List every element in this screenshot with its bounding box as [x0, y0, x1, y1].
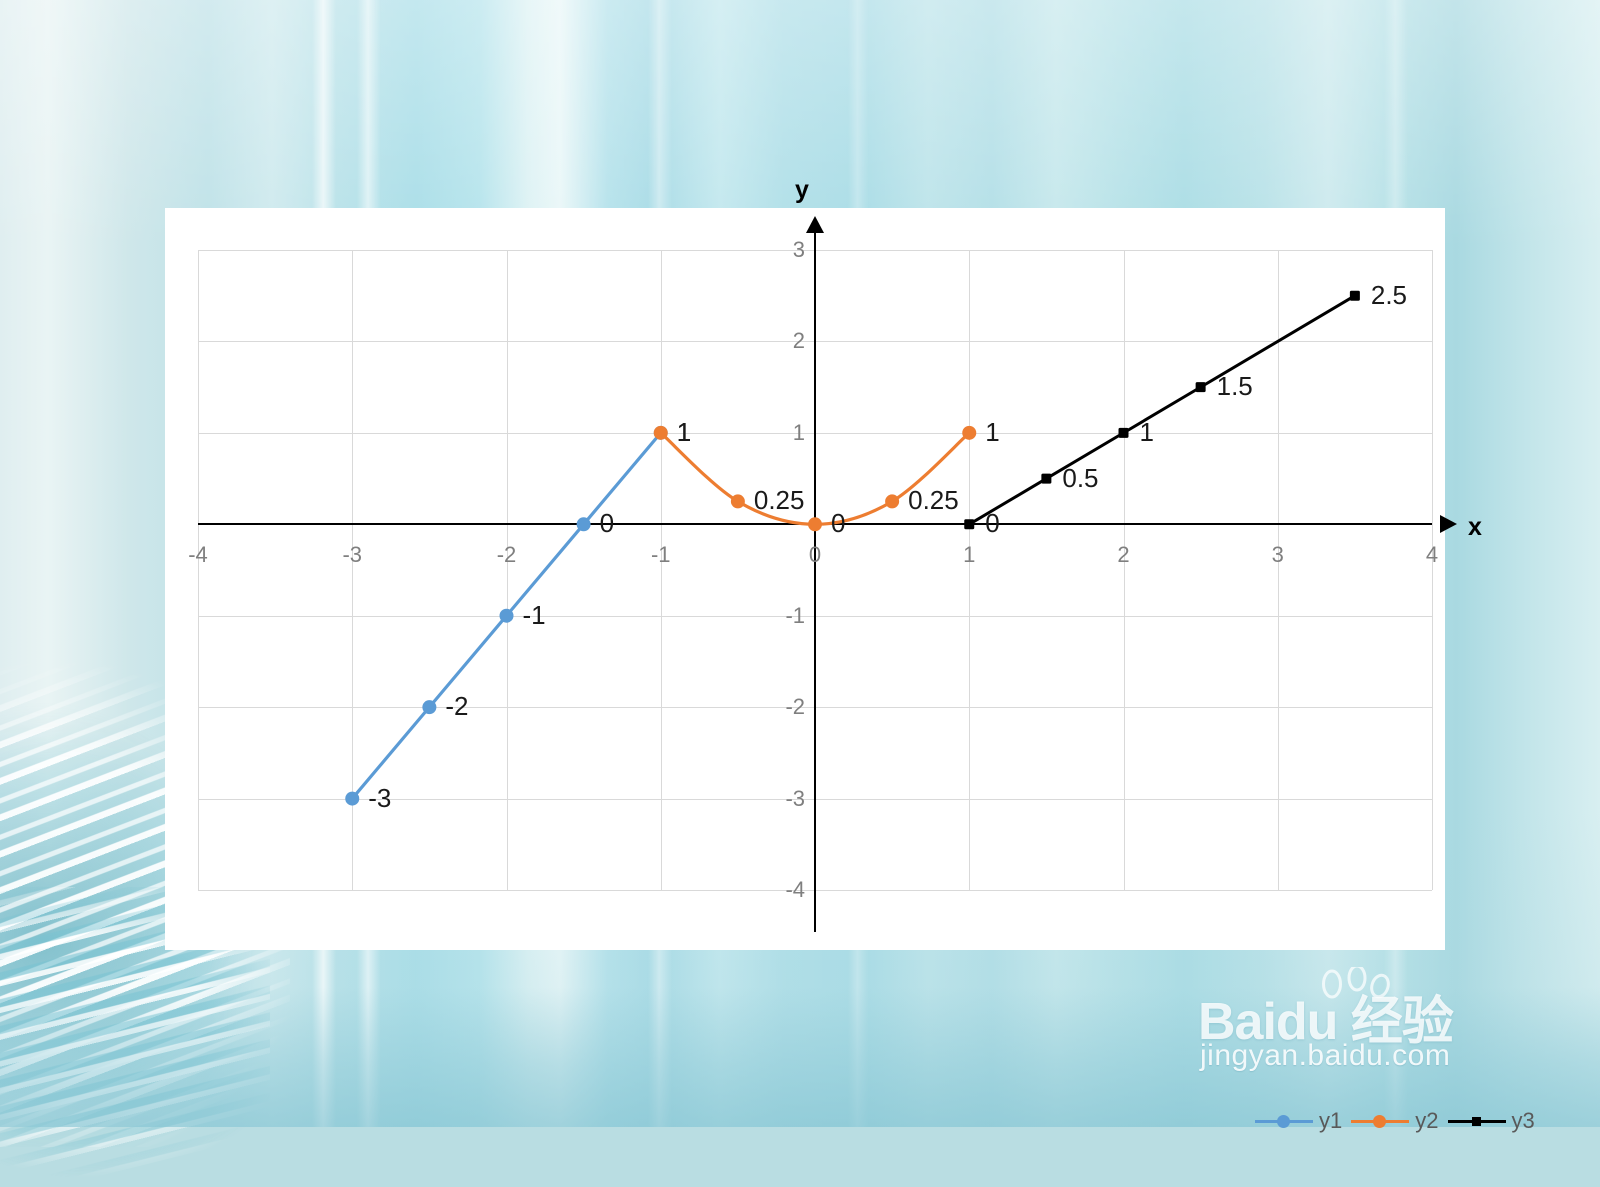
legend-swatch-y2	[1351, 1114, 1409, 1128]
chart-legend: y1y2y3	[1255, 1106, 1544, 1136]
x-axis-arrow-icon	[1440, 515, 1457, 533]
data-label-y1: 0	[600, 510, 614, 536]
data-point-y2	[808, 517, 822, 531]
data-point-y1	[577, 517, 591, 531]
data-label-y2: 0.25	[908, 487, 959, 513]
data-point-y1	[345, 792, 359, 806]
data-label-y2: 0	[831, 510, 845, 536]
data-point-y1	[422, 700, 436, 714]
legend-label-y3: y3	[1512, 1108, 1535, 1134]
data-point-y2	[962, 426, 976, 440]
legend-label-y1: y1	[1319, 1108, 1342, 1134]
series-line-y3	[969, 296, 1355, 525]
data-label-y3: 1	[1140, 419, 1154, 445]
data-label-y2: 0.25	[754, 487, 805, 513]
data-point-y3	[1350, 291, 1360, 301]
plot-area: -4-3-2-101234321-1-2-3-4 -3-2-10110.2500…	[198, 250, 1432, 890]
data-label-y1: -3	[368, 785, 391, 811]
gridline-vertical	[1432, 250, 1433, 890]
data-point-y3	[1196, 382, 1206, 392]
data-label-y3: 0	[985, 510, 999, 536]
chart-card: -4-3-2-101234321-1-2-3-4 -3-2-10110.2500…	[165, 208, 1445, 950]
legend-item-y3[interactable]: y3	[1448, 1108, 1544, 1134]
y-axis-arrow-icon	[806, 216, 824, 233]
legend-label-y2: y2	[1415, 1108, 1438, 1134]
y-axis-title: y	[795, 176, 809, 205]
legend-item-y1[interactable]: y1	[1255, 1108, 1351, 1134]
data-point-y3	[1119, 428, 1129, 438]
x-axis-title: x	[1468, 513, 1482, 542]
data-label-y2: 1	[677, 419, 691, 445]
data-label-y1: -2	[445, 693, 468, 719]
data-label-y3: 2.5	[1371, 282, 1407, 308]
data-point-y1	[500, 609, 514, 623]
data-point-y2	[885, 494, 899, 508]
data-point-y3	[1041, 474, 1051, 484]
data-point-y3	[964, 519, 974, 529]
legend-swatch-y1	[1255, 1114, 1313, 1128]
data-label-y2: 1	[985, 419, 999, 445]
data-point-y2	[731, 494, 745, 508]
data-label-y1: -1	[523, 602, 546, 628]
legend-item-y2[interactable]: y2	[1351, 1108, 1447, 1134]
data-label-y3: 1.5	[1217, 373, 1253, 399]
legend-swatch-y3	[1448, 1114, 1506, 1128]
data-label-y3: 0.5	[1062, 465, 1098, 491]
data-point-y2	[654, 426, 668, 440]
